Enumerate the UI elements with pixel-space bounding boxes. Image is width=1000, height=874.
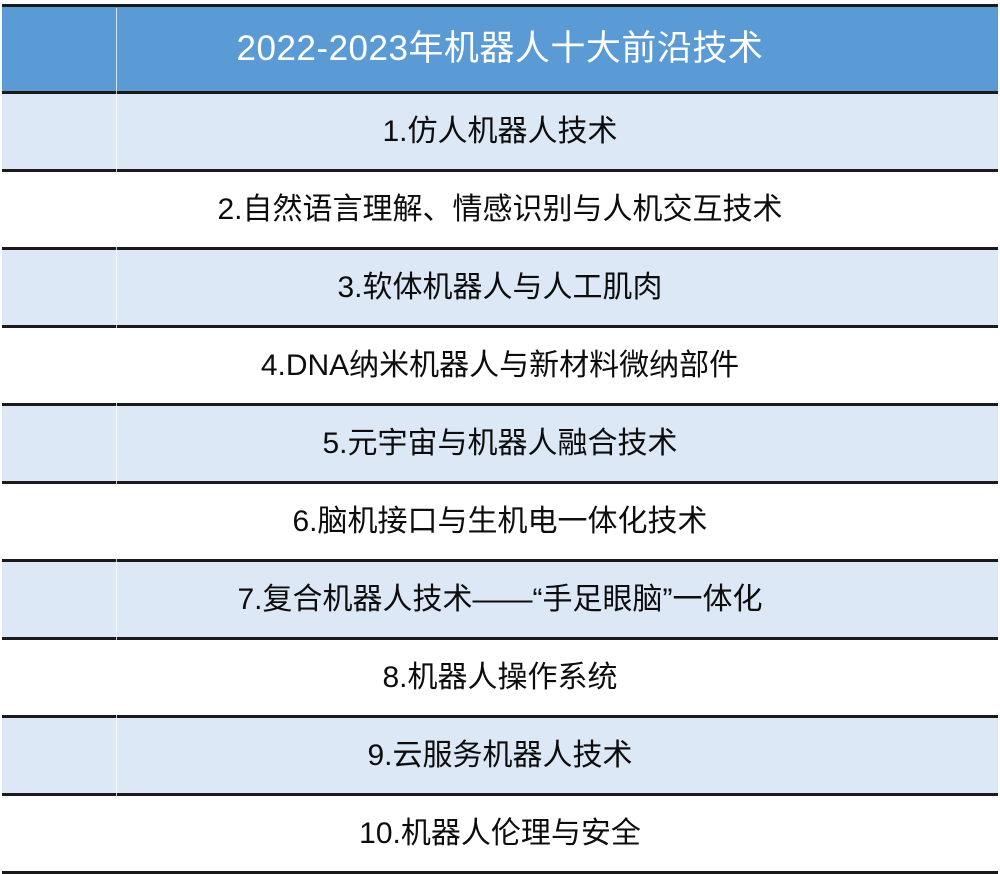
table-cell-10: 10.机器人伦理与安全 [2, 795, 998, 873]
table-row: 7.复合机器人技术——“手足眼脑”一体化 [2, 561, 998, 639]
row-label-9: 9.云服务机器人技术 [367, 741, 632, 771]
table-row: 5.元宇宙与机器人融合技术 [2, 405, 998, 483]
table-cell-3: 3.软体机器人与人工肌肉 [2, 249, 998, 327]
table-row: 9.云服务机器人技术 [2, 717, 998, 795]
table-cell-1: 1.仿人机器人技术 [2, 93, 998, 171]
table-title-cell: 2022-2023年机器人十大前沿技术 [2, 6, 998, 93]
row-label-4: 4.DNA纳米机器人与新材料微纳部件 [261, 351, 739, 381]
table-row: 10.机器人伦理与安全 [2, 795, 998, 873]
row-label-5: 5.元宇宙与机器人融合技术 [322, 429, 677, 459]
table-row: 1.仿人机器人技术 [2, 93, 998, 171]
table-cell-2: 2.自然语言理解、情感识别与人机交互技术 [2, 171, 998, 249]
row-label-2: 2.自然语言理解、情感识别与人机交互技术 [217, 195, 782, 225]
table-body: 1.仿人机器人技术 2.自然语言理解、情感识别与人机交互技术 3.软体机器人与人… [2, 93, 998, 873]
row-label-7: 7.复合机器人技术——“手足眼脑”一体化 [238, 585, 763, 615]
tech-table-container: 2022-2023年机器人十大前沿技术 1.仿人机器人技术 2.自然语言理解、情… [2, 4, 998, 874]
table-cell-9: 9.云服务机器人技术 [2, 717, 998, 795]
row-label-3: 3.软体机器人与人工肌肉 [337, 273, 662, 303]
top-ten-robotics-technologies-table: 2022-2023年机器人十大前沿技术 1.仿人机器人技术 2.自然语言理解、情… [2, 4, 998, 874]
page-title: 2022-2023年机器人十大前沿技术 [237, 31, 764, 66]
table-cell-7: 7.复合机器人技术——“手足眼脑”一体化 [2, 561, 998, 639]
row-label-6: 6.脑机接口与生机电一体化技术 [292, 507, 707, 537]
table-cell-8: 8.机器人操作系统 [2, 639, 998, 717]
table-cell-6: 6.脑机接口与生机电一体化技术 [2, 483, 998, 561]
row-label-1: 1.仿人机器人技术 [382, 117, 617, 147]
table-row: 8.机器人操作系统 [2, 639, 998, 717]
table-row: 2.自然语言理解、情感识别与人机交互技术 [2, 171, 998, 249]
table-row: 6.脑机接口与生机电一体化技术 [2, 483, 998, 561]
row-label-10: 10.机器人伦理与安全 [359, 819, 641, 849]
table-cell-5: 5.元宇宙与机器人融合技术 [2, 405, 998, 483]
table-header-row: 2022-2023年机器人十大前沿技术 [2, 6, 998, 93]
table-row: 3.软体机器人与人工肌肉 [2, 249, 998, 327]
table-row: 4.DNA纳米机器人与新材料微纳部件 [2, 327, 998, 405]
table-cell-4: 4.DNA纳米机器人与新材料微纳部件 [2, 327, 998, 405]
row-label-8: 8.机器人操作系统 [382, 663, 617, 693]
